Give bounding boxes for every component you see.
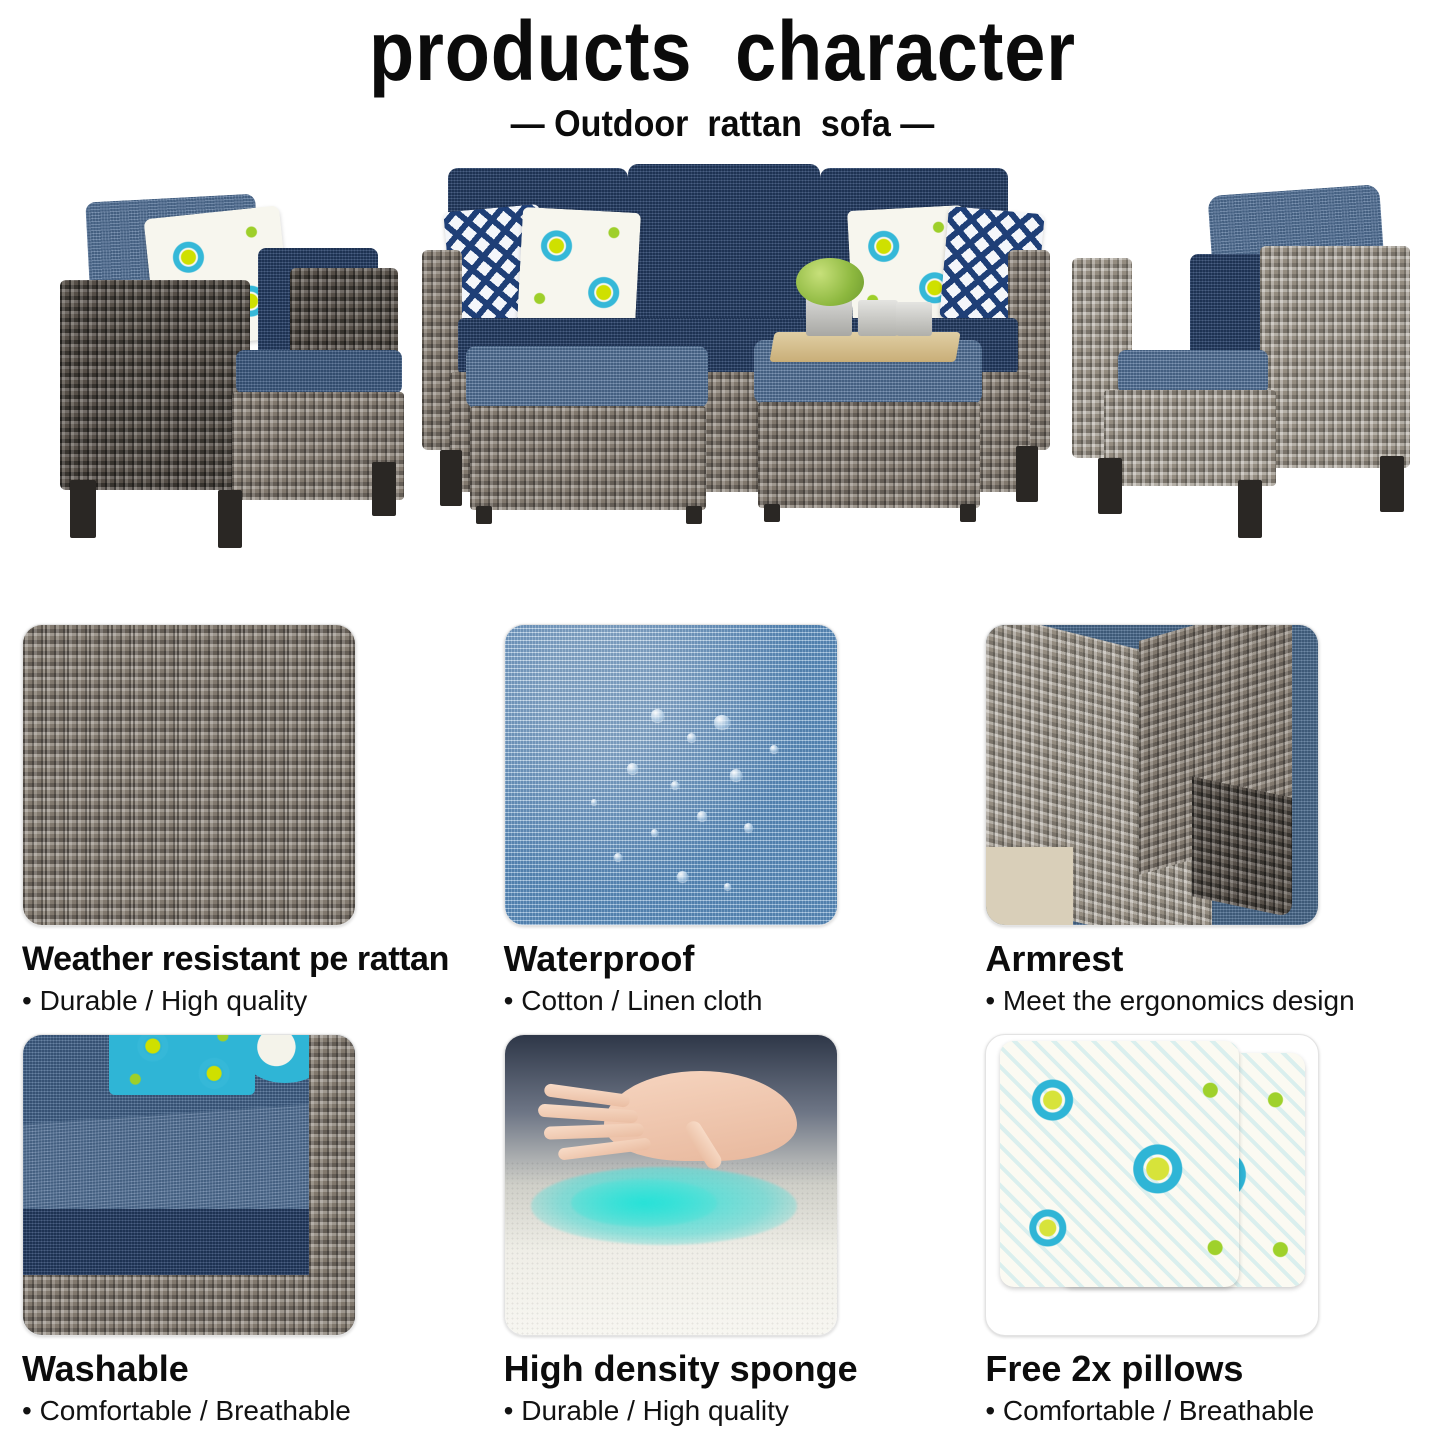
feature-card-waterproof[interactable]: Waterproof • Cotton / Linen cloth (482, 612, 964, 1018)
feature-card-washable[interactable]: Washable • Comfortable / Breathable (0, 1022, 482, 1428)
armchair-left-seat-cushion (236, 350, 402, 394)
ottoman-left-base (470, 406, 706, 510)
page-title: products character (87, 8, 1359, 94)
sofa-leg-left (440, 450, 462, 506)
armchair-left-leg-back (372, 462, 396, 516)
feature-subtitle: • Comfortable / Breathable (22, 1394, 464, 1428)
feature-title: Weather resistant pe rattan (22, 938, 464, 980)
green-plant (796, 258, 864, 306)
sofa-pillow-suzani-left (517, 207, 641, 329)
armchair-right-base (1104, 390, 1276, 486)
armchair-left-leg-mid (218, 490, 242, 548)
feature-card-high-density-sponge[interactable]: High density sponge • Durable / High qua… (482, 1022, 964, 1428)
hero-product-image (0, 150, 1445, 570)
feature-card-armrest[interactable]: Armrest • Meet the ergonomics design (963, 612, 1445, 1018)
feature-title: Armrest (985, 938, 1427, 980)
armchair-right-arm-right (1260, 246, 1410, 468)
ottoman-left-leg-b (686, 506, 702, 524)
feature-subtitle: • Durable / High quality (504, 1394, 946, 1428)
feature-subtitle: • Meet the ergonomics design (985, 984, 1427, 1018)
feature-card-weather-resistant-pe-rattan[interactable]: Weather resistant pe rattan • Durable / … (0, 612, 482, 1018)
silver-cup-2 (896, 302, 932, 336)
wood-tray (769, 332, 960, 362)
armchair-left-leg-front (70, 480, 96, 538)
feature-subtitle: • Comfortable / Breathable (985, 1394, 1427, 1428)
armchair-right-leg-mid (1238, 480, 1262, 538)
sofa-leg-right (1016, 446, 1038, 502)
feature-image-blue-cushion-closeup (22, 1034, 356, 1336)
feature-grid: Weather resistant pe rattan • Durable / … (0, 612, 1445, 1428)
ottoman-right-leg-a (764, 504, 780, 522)
ottoman-right-base (758, 402, 980, 508)
feature-subtitle: • Durable / High quality (22, 984, 464, 1018)
feature-image-two-patterned-pillows (985, 1034, 1319, 1336)
feature-title: Washable (22, 1348, 464, 1390)
feature-title: High density sponge (504, 1348, 946, 1390)
armchair-left-arm-front (60, 280, 250, 490)
feature-title: Free 2x pillows (985, 1348, 1427, 1390)
page-subtitle: — Outdoor rattan sofa — (58, 102, 1387, 146)
ottoman-left-cushion (466, 346, 708, 408)
feature-subtitle: • Cotton / Linen cloth (504, 984, 946, 1018)
feature-title: Waterproof (504, 938, 946, 980)
feature-image-water-droplets-on-fabric (504, 624, 838, 926)
sofa-back-cushion-2 (628, 164, 820, 328)
feature-card-free-2x-pillows[interactable]: Free 2x pillows • Comfortable / Breathab… (963, 1022, 1445, 1428)
ottoman-right-leg-b (960, 504, 976, 522)
feature-image-hand-pressing-foam (504, 1034, 838, 1336)
armchair-right-seat-cushion (1118, 350, 1268, 394)
ottoman-left-leg-a (476, 506, 492, 524)
feature-image-rattan-weave-closeup (22, 624, 356, 926)
feature-image-woven-armrest-corner (985, 624, 1319, 926)
silver-cup-1 (858, 300, 898, 336)
armchair-right-leg-front (1098, 458, 1122, 514)
armchair-right-leg-back (1380, 456, 1404, 512)
page-header: products character — Outdoor rattan sofa… (0, 0, 1445, 146)
